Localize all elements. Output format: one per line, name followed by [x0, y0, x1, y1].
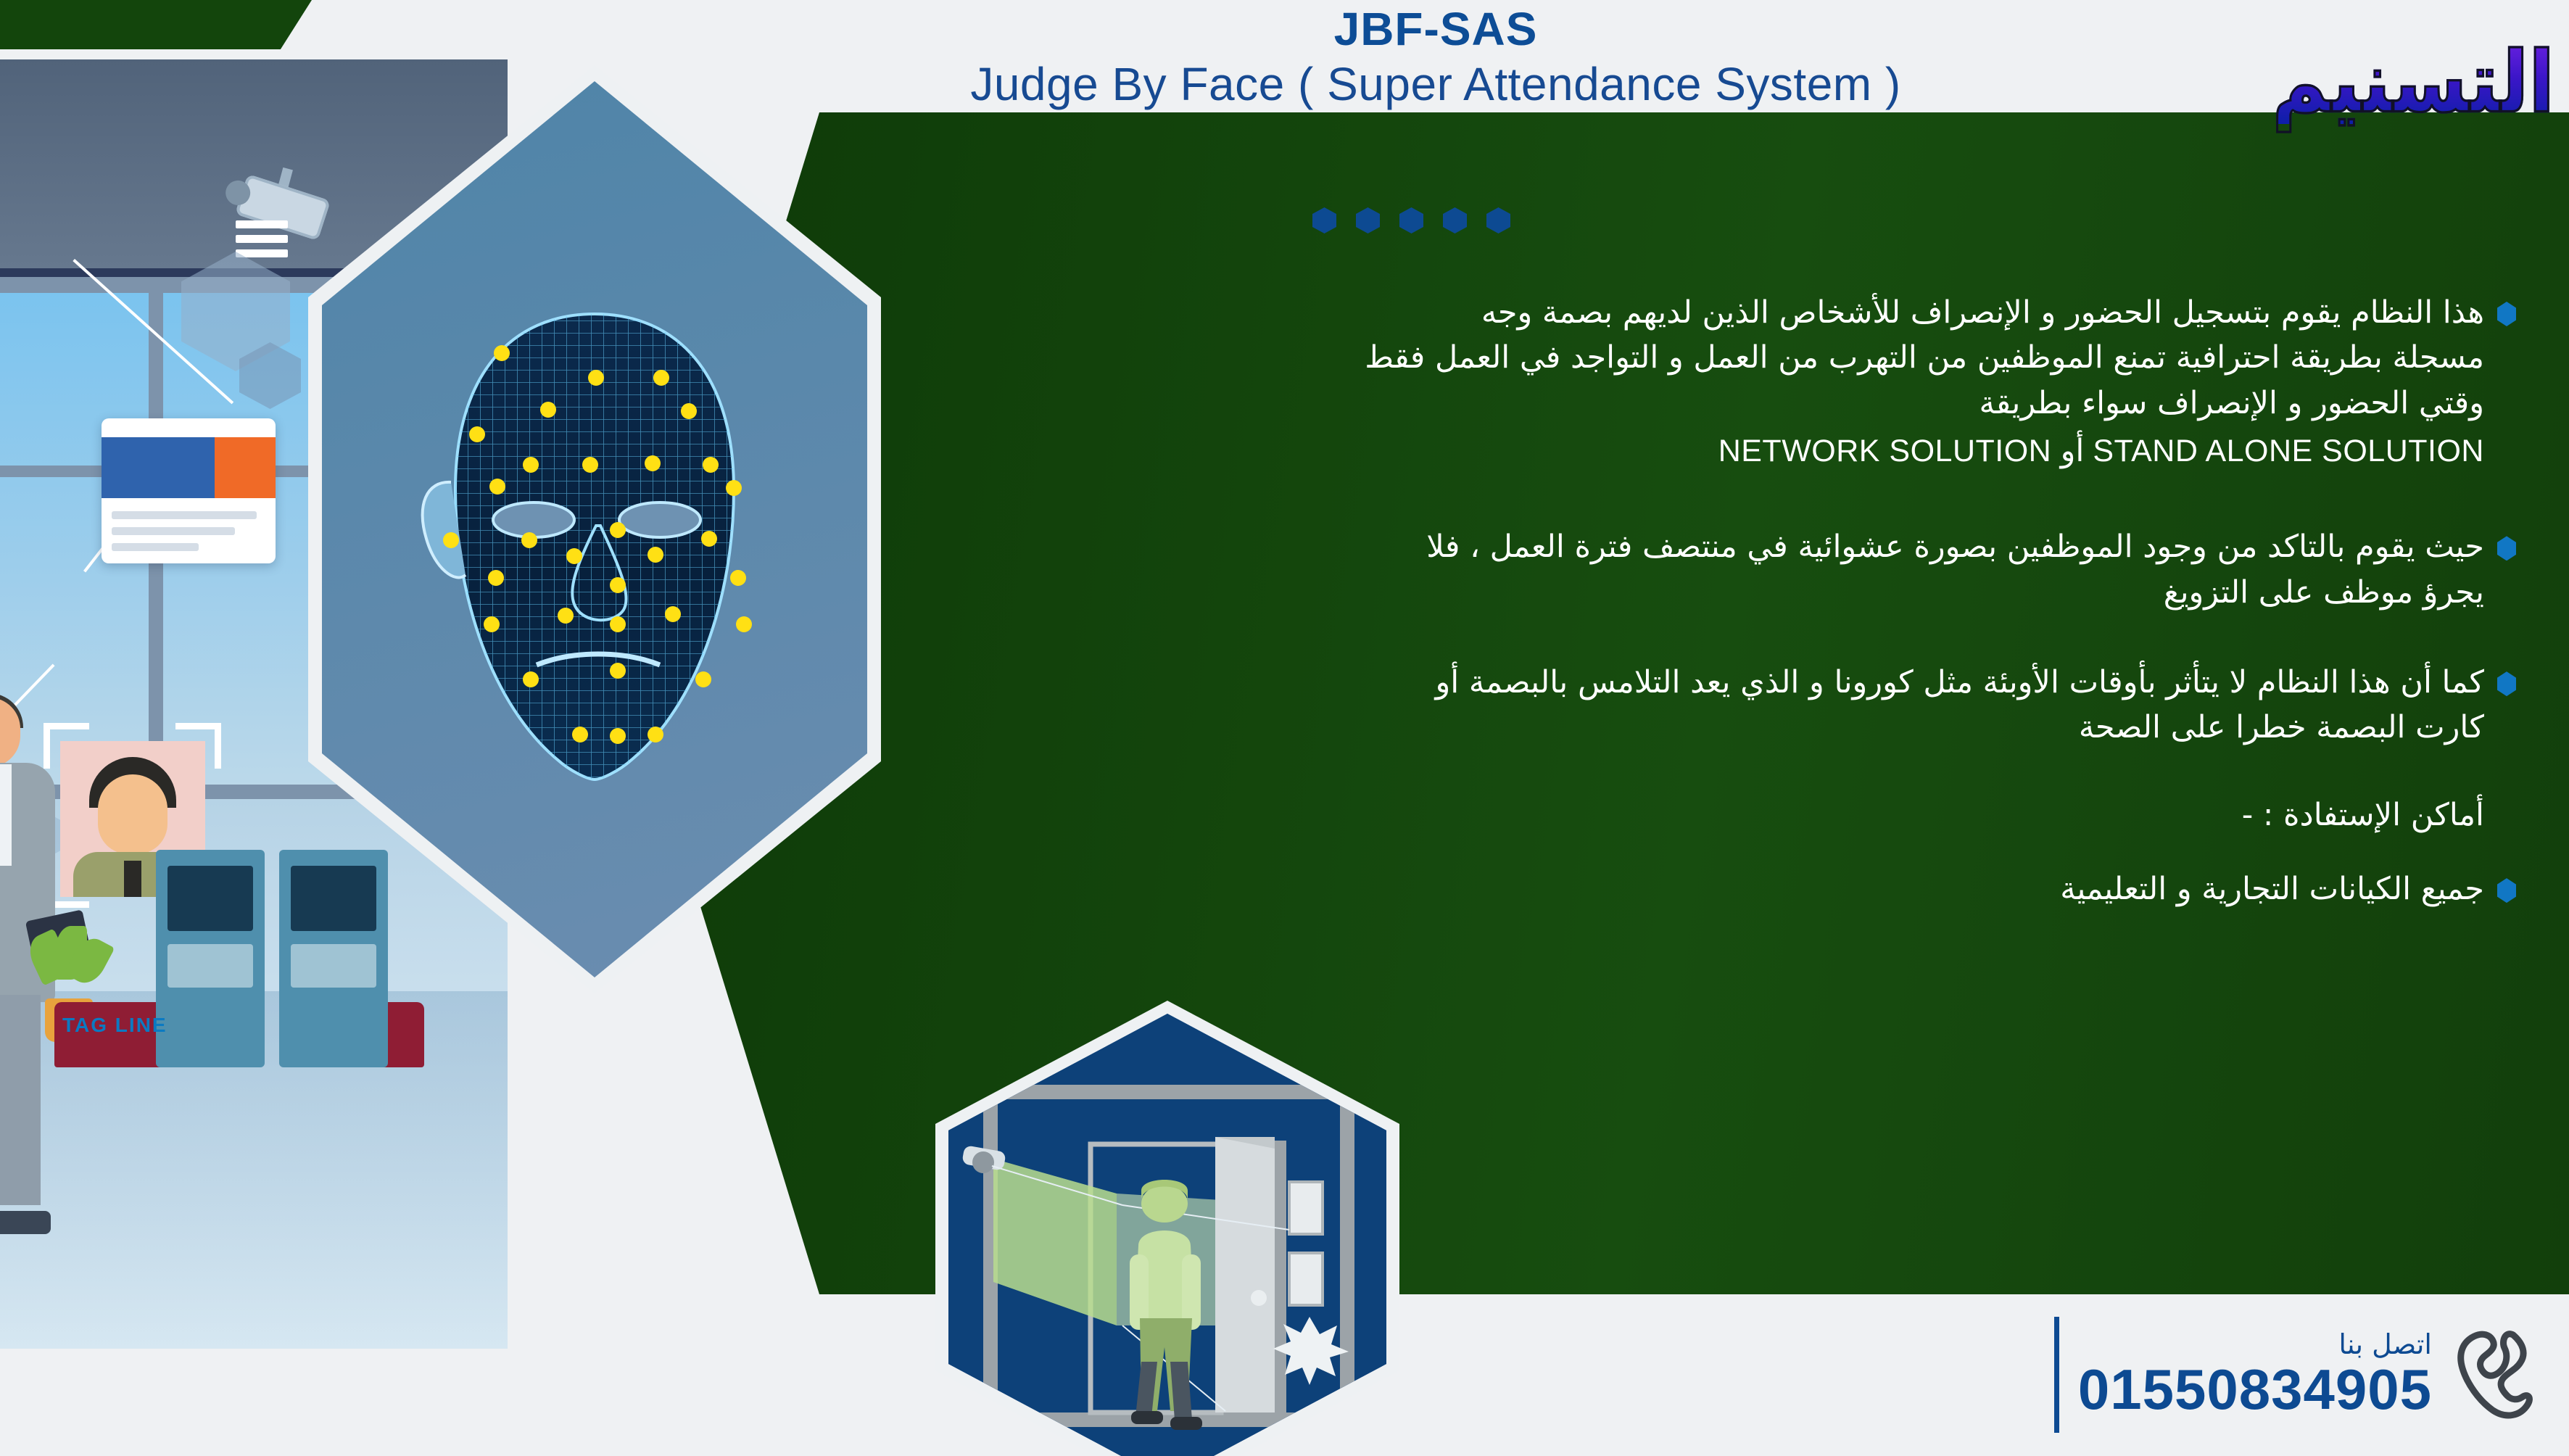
solution-types-line: NETWORK SOLUTION أو STAND ALONE SOLUTION — [928, 429, 2484, 473]
atm-kiosk — [156, 850, 265, 1067]
face-mesh-graphic — [406, 308, 783, 787]
hex-dot-icon — [1486, 207, 1510, 233]
bullet-line: أماكن الإستفادة : - — [928, 793, 2484, 837]
hex-bullet-icon — [2497, 536, 2516, 561]
face-mesh-svg — [406, 308, 783, 787]
hex-dot-icon — [1312, 207, 1336, 233]
employee-shirt — [0, 764, 12, 866]
contact-block[interactable]: اتصل بنا 01550834905 — [2054, 1317, 2534, 1433]
hex-dot-icon — [1399, 207, 1423, 233]
bullet-text: جميع الكيانات التجارية و التعليمية — [928, 866, 2484, 911]
bullet-line: هذا النظام يقوم بتسجيل الحضور و الإنصراف… — [928, 290, 2484, 335]
kiosk-keypad — [167, 944, 253, 988]
bullet-line: حيث يقوم بالتاكد من وجود الموظفين بصورة … — [928, 524, 2484, 569]
bullet-line: وقتي الحضور و الإنصراف سواء بطريقة — [928, 381, 2484, 426]
hex-dot-icon — [1443, 207, 1467, 233]
phone-handset-icon — [2451, 1328, 2534, 1422]
card-text-line — [112, 543, 199, 551]
kiosk-keypad — [291, 944, 376, 988]
kiosk-screen — [167, 866, 253, 931]
body-content: هذا النظام يقوم بتسجيل الحضور و الإنصراف… — [928, 290, 2516, 943]
kiosk-screen — [291, 866, 376, 931]
bullet-line: كما أن هذا النظام لا يتأثر بأوقات الأوبئ… — [928, 660, 2484, 705]
hex-dot-divider — [1312, 207, 1510, 233]
contact-divider — [2054, 1317, 2059, 1433]
contact-label: اتصل بنا — [2078, 1330, 2432, 1360]
bullet-line: مسجلة بطريقة احترافية تمنع الموظفين من ا… — [928, 335, 2484, 380]
bullet-item: حيث يقوم بالتاكد من وجود الموظفين بصورة … — [928, 524, 2516, 615]
bullet-line: جميع الكيانات التجارية و التعليمية — [928, 866, 2484, 911]
contact-phone-number[interactable]: 01550834905 — [2078, 1360, 2432, 1420]
card-text-line — [112, 527, 235, 535]
title-block: JBF-SAS Judge By Face ( Super Attendance… — [725, 6, 2146, 111]
brand-logo: التسنيم — [2185, 35, 2554, 129]
bullet-text: كما أن هذا النظام لا يتأثر بأوقات الأوبئ… — [928, 660, 2484, 750]
bullet-line: كارت البصمة خطرا على الصحة — [928, 705, 2484, 750]
atm-kiosk — [279, 850, 388, 1067]
hex-dot-icon — [1356, 207, 1380, 233]
hex-bullet-icon — [2497, 302, 2516, 326]
bullet-item: أماكن الإستفادة : - — [928, 793, 2516, 837]
bullet-text: هذا النظام يقوم بتسجيل الحضور و الإنصراف… — [928, 290, 2484, 473]
brand-logo-text: التسنيم — [2272, 40, 2554, 124]
tagline-text: TAG LINE — [62, 1014, 167, 1037]
hex-bullet-icon — [2497, 878, 2516, 903]
page-subtitle: Judge By Face ( Super Attendance System … — [725, 57, 2146, 111]
page-title: JBF-SAS — [725, 6, 2146, 53]
bullet-item: كما أن هذا النظام لا يتأثر بأوقات الأوبئ… — [928, 660, 2516, 750]
hex-bullet-icon — [2497, 671, 2516, 696]
card-accent — [215, 437, 276, 498]
bullet-item: جميع الكيانات التجارية و التعليمية — [928, 866, 2516, 911]
employee-id-card — [102, 418, 276, 563]
bullet-text: حيث يقوم بالتاكد من وجود الموظفين بصورة … — [928, 524, 2484, 615]
employee-shoe — [0, 1211, 51, 1234]
poster-canvas: JBF-SAS Judge By Face ( Super Attendance… — [0, 0, 2569, 1456]
contact-text: اتصل بنا 01550834905 — [2078, 1330, 2432, 1420]
bullet-text: أماكن الإستفادة : - — [928, 793, 2484, 837]
bullet-line: يجرؤ موظف على التزويغ — [928, 570, 2484, 615]
card-text-line — [112, 511, 257, 519]
header: JBF-SAS Judge By Face ( Super Attendance… — [0, 0, 2569, 145]
bullet-item: هذا النظام يقوم بتسجيل الحضور و الإنصراف… — [928, 290, 2516, 473]
